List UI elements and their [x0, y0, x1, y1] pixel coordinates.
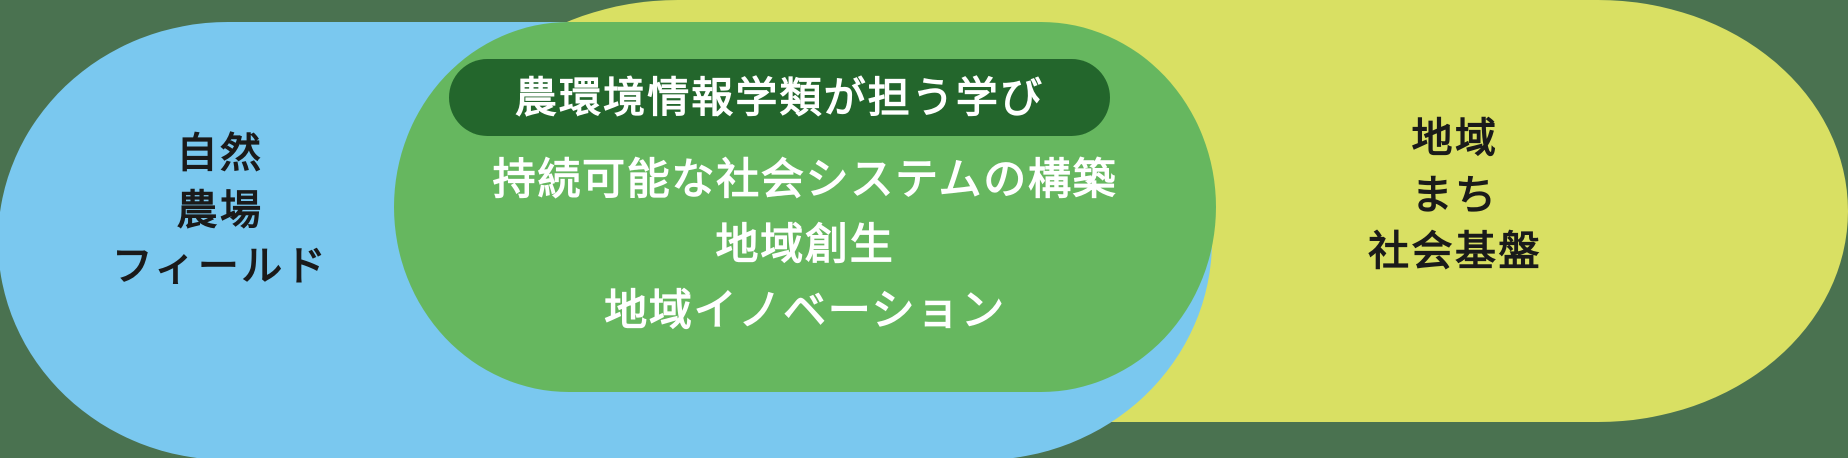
region-label-learning-line-3: 地域イノベーション [396, 279, 1214, 344]
region-label-community-line-1: 地域 [1245, 110, 1665, 167]
title-pill-label: 農環境情報学類が担う学び [515, 77, 1044, 119]
region-label-nature-line-3: フィールド [10, 238, 430, 295]
region-label-nature-line-1: 自然 [10, 125, 430, 182]
region-label-learning: 持続可能な社会システムの構築 地域創生 地域イノベーション [396, 148, 1214, 344]
region-label-learning-line-1: 持続可能な社会システムの構築 [396, 148, 1214, 213]
region-label-learning-line-2: 地域創生 [396, 213, 1214, 278]
region-label-community-line-3: 社会基盤 [1245, 223, 1665, 280]
title-pill-badge: 農環境情報学類が担う学び [449, 59, 1110, 136]
region-label-nature: 自然 農場 フィールド [10, 125, 430, 295]
region-label-community-line-2: まち [1245, 167, 1665, 224]
venn-diagram: 農環境情報学類が担う学び 自然 農場 フィールド 持続可能な社会システムの構築 … [0, 0, 1848, 458]
region-label-nature-line-2: 農場 [10, 182, 430, 239]
region-label-community: 地域 まち 社会基盤 [1245, 110, 1665, 280]
